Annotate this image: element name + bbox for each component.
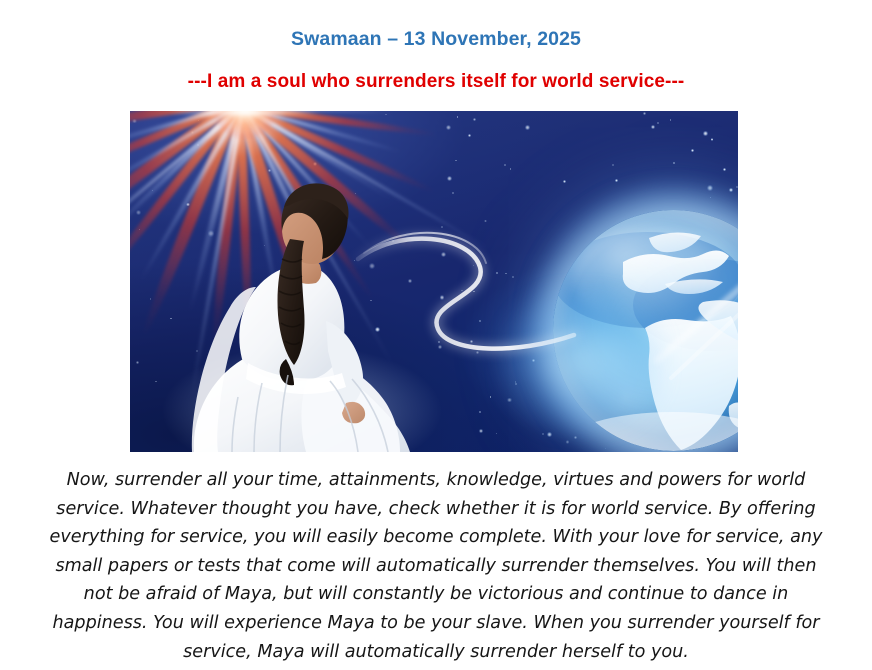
body-paragraph: Now, surrender all your time, attainment…: [40, 466, 832, 666]
page-subtitle: ---I am a soul who surrenders itself for…: [0, 71, 872, 93]
page-title: Swamaan – 13 November, 2025: [0, 28, 872, 51]
meditating-woman-figure: [130, 111, 738, 452]
document-page: Swamaan – 13 November, 2025 ---I am a so…: [0, 0, 872, 670]
illustration-image: [130, 111, 738, 452]
illustration-canvas: [130, 111, 738, 452]
